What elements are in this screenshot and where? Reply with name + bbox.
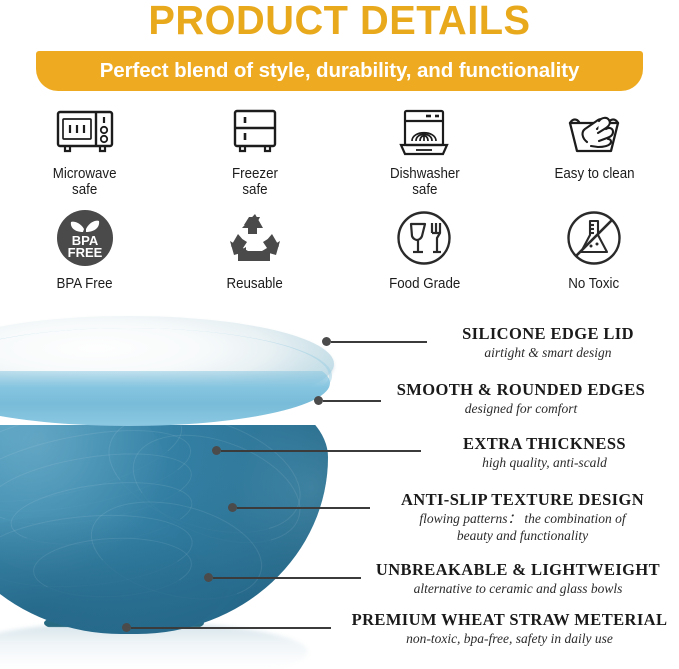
- callout-title: EXTRA THICKNESS: [410, 434, 679, 453]
- feature-label: Dishwasher safe: [390, 166, 460, 198]
- feature-row-2: BPA FREE BPA Free: [0, 209, 679, 292]
- feature-reusable: Reusable: [170, 209, 340, 292]
- callout-text-block: SILICONE EDGE LIDairtight & smart design: [417, 324, 679, 361]
- callout-title: SILICONE EDGE LID: [417, 324, 679, 343]
- product-details-infographic: PRODUCT DETAILS Perfect blend of style, …: [0, 0, 679, 669]
- feature-row-1: Microwave safe Freeze: [0, 104, 679, 198]
- feature-label: BPA Free: [57, 276, 113, 292]
- no-toxic-icon: [566, 209, 622, 267]
- feature-easy-to-clean: Easy to clean: [509, 104, 679, 198]
- feature-label: Freezer safe: [232, 166, 278, 198]
- product-image-bowl: [0, 310, 344, 650]
- callout-subtitle: airtight & smart design: [417, 344, 679, 361]
- callout-text-block: UNBREAKABLE & LIGHTWEIGHTalternative to …: [357, 560, 679, 597]
- food-grade-icon: [396, 209, 452, 267]
- dishwasher-icon: [395, 104, 453, 160]
- callout-subtitle: high quality, anti-scald: [410, 454, 679, 471]
- page-title: PRODUCT DETAILS: [10, 0, 669, 42]
- callout-subtitle: designed for comfort: [373, 400, 669, 417]
- feature-dishwasher-safe: Dishwasher safe: [340, 104, 510, 198]
- callout-title: SMOOTH & ROUNDED EDGES: [373, 380, 669, 399]
- microwave-icon: [56, 104, 114, 160]
- hand-wash-icon: [565, 104, 623, 160]
- callout-subtitle: alternative to ceramic and glass bowls: [357, 580, 679, 597]
- callout-text-block: ANTI-SLIP TEXTURE DESIGNflowing patterns…: [366, 490, 679, 544]
- feature-label: Reusable: [226, 276, 282, 292]
- feature-label: Easy to clean: [554, 166, 634, 182]
- callout-title: ANTI-SLIP TEXTURE DESIGN: [366, 490, 679, 509]
- callout-leader-line: [331, 341, 427, 343]
- freezer-icon: [232, 104, 278, 160]
- feature-bpa-free: BPA FREE BPA Free: [0, 209, 170, 292]
- feature-label: Microwave safe: [53, 166, 117, 198]
- feature-icon-grid: Microwave safe Freeze: [0, 104, 679, 292]
- callout-text-block: EXTRA THICKNESShigh quality, anti-scald: [410, 434, 679, 471]
- subtitle-text: Perfect blend of style, durability, and …: [100, 59, 580, 83]
- callout-subtitle: non-toxic, bpa-free, safety in daily use: [340, 630, 679, 647]
- feature-no-toxic: No Toxic: [509, 209, 679, 292]
- callout-title: UNBREAKABLE & LIGHTWEIGHT: [357, 560, 679, 579]
- feature-label: No Toxic: [569, 276, 620, 292]
- bpa-badge-line2: FREE: [68, 245, 103, 260]
- callout-text-block: PREMIUM WHEAT STRAW METERIALnon-toxic, b…: [340, 610, 679, 647]
- feature-food-grade: Food Grade: [340, 209, 510, 292]
- callout-text-block: SMOOTH & ROUNDED EDGESdesigned for comfo…: [373, 380, 669, 417]
- callout-title: PREMIUM WHEAT STRAW METERIAL: [340, 610, 679, 629]
- recycle-icon: [226, 209, 284, 267]
- feature-freezer-safe: Freezer safe: [170, 104, 340, 198]
- feature-label: Food Grade: [389, 276, 460, 292]
- feature-microwave-safe: Microwave safe: [0, 104, 170, 198]
- bpa-free-badge-icon: BPA FREE: [56, 209, 114, 267]
- callout-subtitle: flowing patterns： the combination of bea…: [366, 510, 679, 544]
- subtitle-banner: Perfect blend of style, durability, and …: [36, 51, 643, 91]
